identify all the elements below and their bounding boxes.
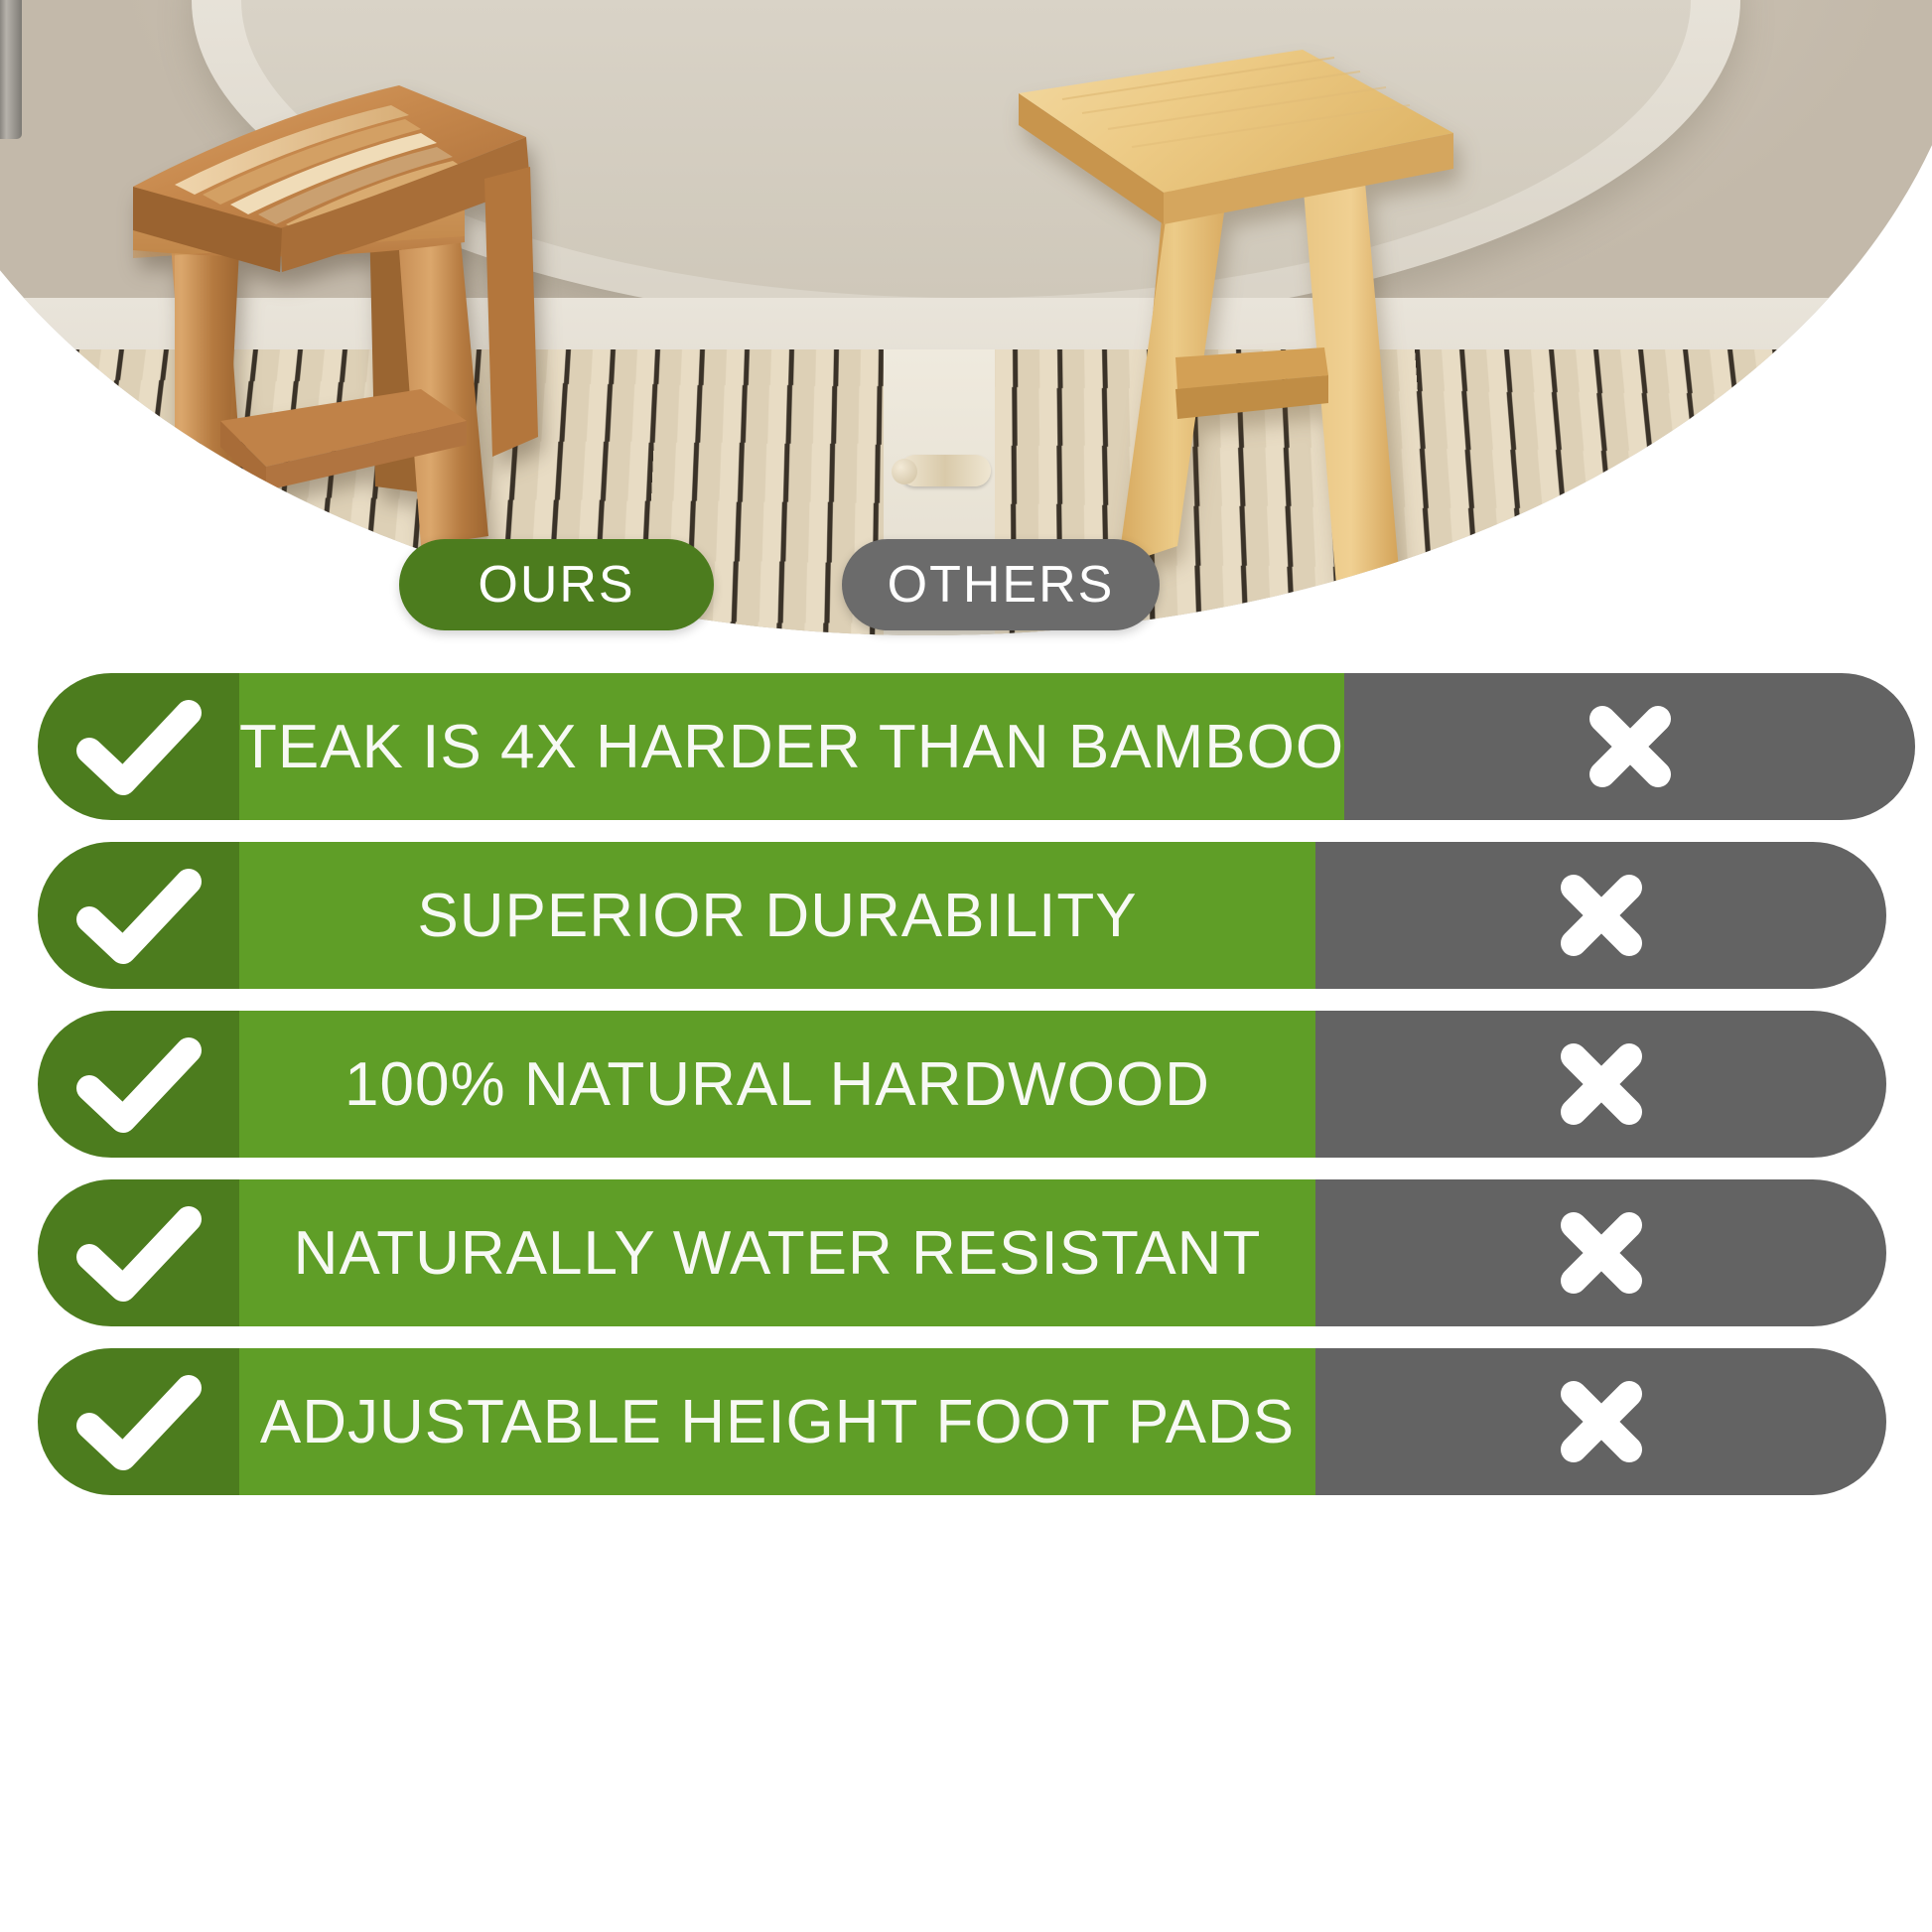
teak-stool-image xyxy=(71,20,588,616)
comparison-table: TEAK IS 4X HARDER THAN BAMBOO SUPERIOR D… xyxy=(0,673,1932,1517)
check-icon xyxy=(75,866,203,965)
badge-ours-label: OURS xyxy=(478,555,634,615)
badge-others-label: OTHERS xyxy=(888,555,1115,615)
cross-icon xyxy=(1554,868,1649,963)
others-cross-cell xyxy=(1315,1348,1886,1495)
check-icon xyxy=(75,1035,203,1134)
table-row: NATURALLY WATER RESISTANT xyxy=(0,1179,1932,1326)
feature-label: NATURALLY WATER RESISTANT xyxy=(239,1179,1315,1326)
badge-others[interactable]: OTHERS xyxy=(842,539,1160,630)
ours-check-cell xyxy=(38,1348,239,1495)
table-row: ADJUSTABLE HEIGHT FOOT PADS xyxy=(0,1348,1932,1495)
bamboo-stool-image xyxy=(933,30,1489,616)
cross-icon xyxy=(1554,1205,1649,1301)
faucet-pole xyxy=(0,0,22,139)
badge-ours[interactable]: OURS xyxy=(399,539,714,630)
feature-label: SUPERIOR DURABILITY xyxy=(239,842,1315,989)
cross-icon xyxy=(1583,699,1678,794)
cross-icon xyxy=(1554,1374,1649,1469)
ours-check-cell xyxy=(38,842,239,989)
others-cross-cell xyxy=(1344,673,1915,820)
others-cross-cell xyxy=(1315,1179,1886,1326)
feature-label: ADJUSTABLE HEIGHT FOOT PADS xyxy=(239,1348,1315,1495)
table-row: SUPERIOR DURABILITY xyxy=(0,842,1932,989)
feature-label: TEAK IS 4X HARDER THAN BAMBOO xyxy=(239,673,1344,820)
feature-label: 100% NATURAL HARDWOOD xyxy=(239,1011,1315,1158)
others-cross-cell xyxy=(1315,842,1886,989)
check-icon xyxy=(75,1372,203,1471)
ours-check-cell xyxy=(38,1179,239,1326)
mat-rope-knob xyxy=(892,459,917,484)
table-row: 100% NATURAL HARDWOOD xyxy=(0,1011,1932,1158)
table-row: TEAK IS 4X HARDER THAN BAMBOO xyxy=(0,673,1932,820)
ours-check-cell xyxy=(38,1011,239,1158)
ours-check-cell xyxy=(38,673,239,820)
check-icon xyxy=(75,1203,203,1303)
check-icon xyxy=(75,697,203,796)
cross-icon xyxy=(1554,1036,1649,1132)
others-cross-cell xyxy=(1315,1011,1886,1158)
